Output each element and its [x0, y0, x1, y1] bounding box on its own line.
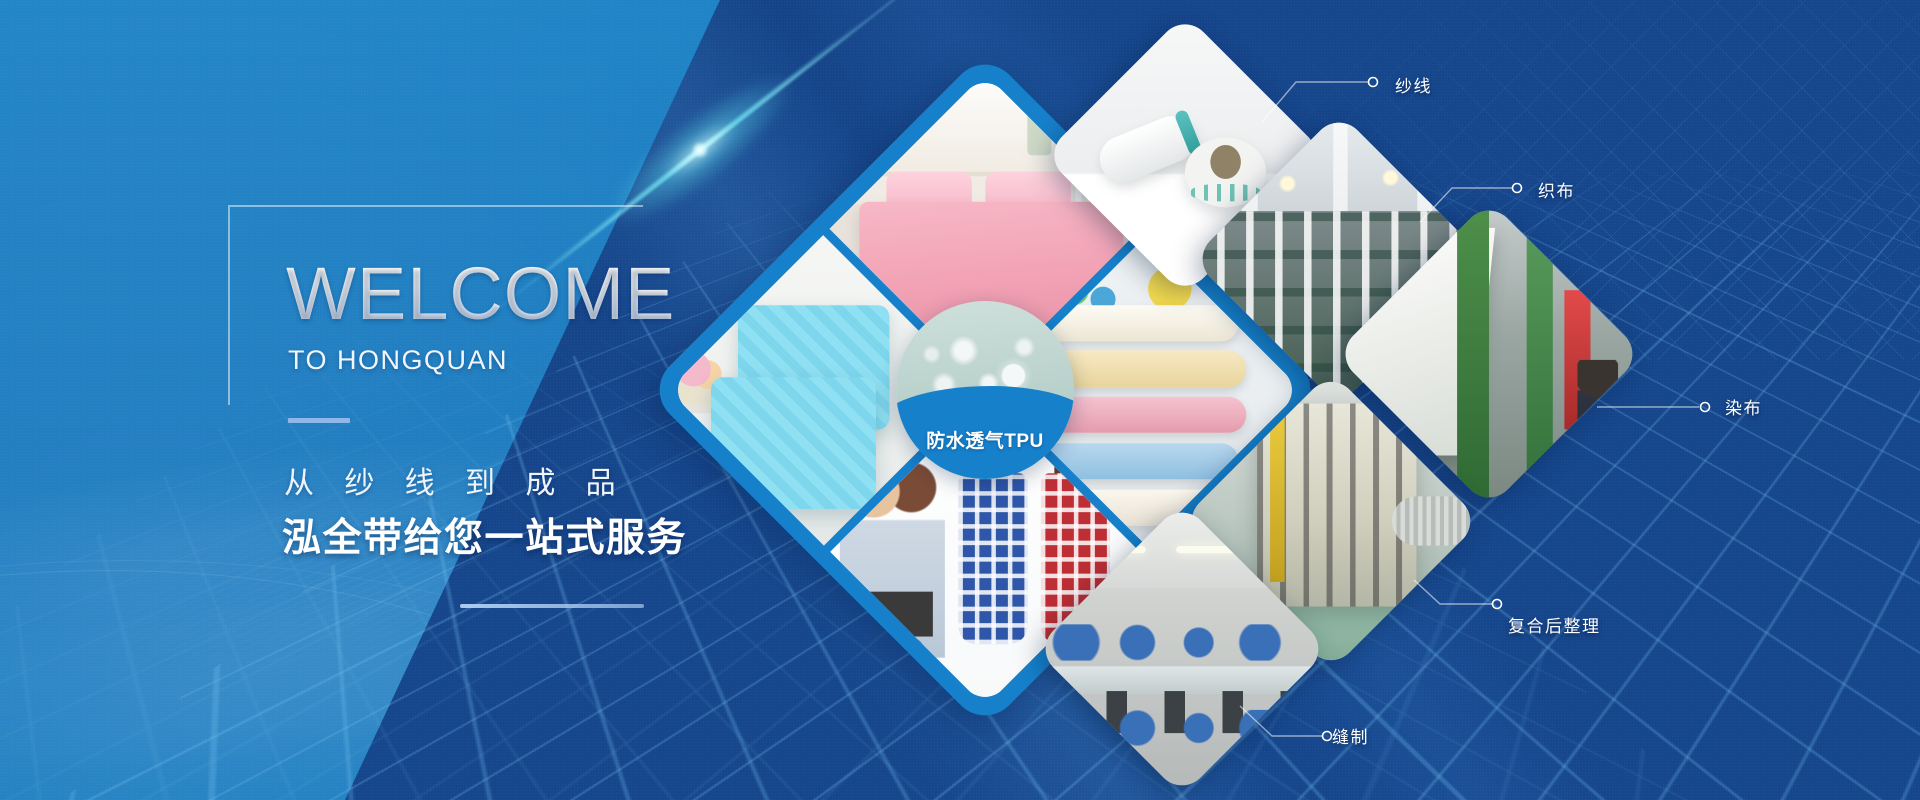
page-subtitle: TO HONGQUAN	[288, 345, 508, 376]
process-label-sewing: 缝制	[1332, 723, 1369, 748]
sewing-tile	[1035, 502, 1329, 796]
slogan-text: 泓全带给您一站式服务	[282, 507, 687, 563]
tagline-text: 从 纱 线 到 成 品	[284, 458, 627, 502]
tpu-badge[interactable]: 防水透气TPU	[896, 301, 1074, 479]
page-title: WELCOME	[286, 257, 675, 331]
hero-banner: WELCOME TO HONGQUAN 从 纱 线 到 成 品 泓全带给您一站式…	[0, 0, 1920, 800]
process-step-sewing[interactable]	[1078, 545, 1286, 753]
sewing-machine-icon	[1035, 502, 1329, 796]
process-label-weaving: 织布	[1538, 177, 1575, 202]
process-label-yarn: 纱线	[1395, 72, 1432, 97]
divider-short	[288, 418, 350, 423]
process-label-dyeing: 染布	[1725, 394, 1762, 419]
process-label-laminating: 复合后整理	[1508, 612, 1601, 637]
tpu-badge-label: 防水透气TPU	[896, 426, 1074, 453]
divider-long	[460, 604, 644, 608]
